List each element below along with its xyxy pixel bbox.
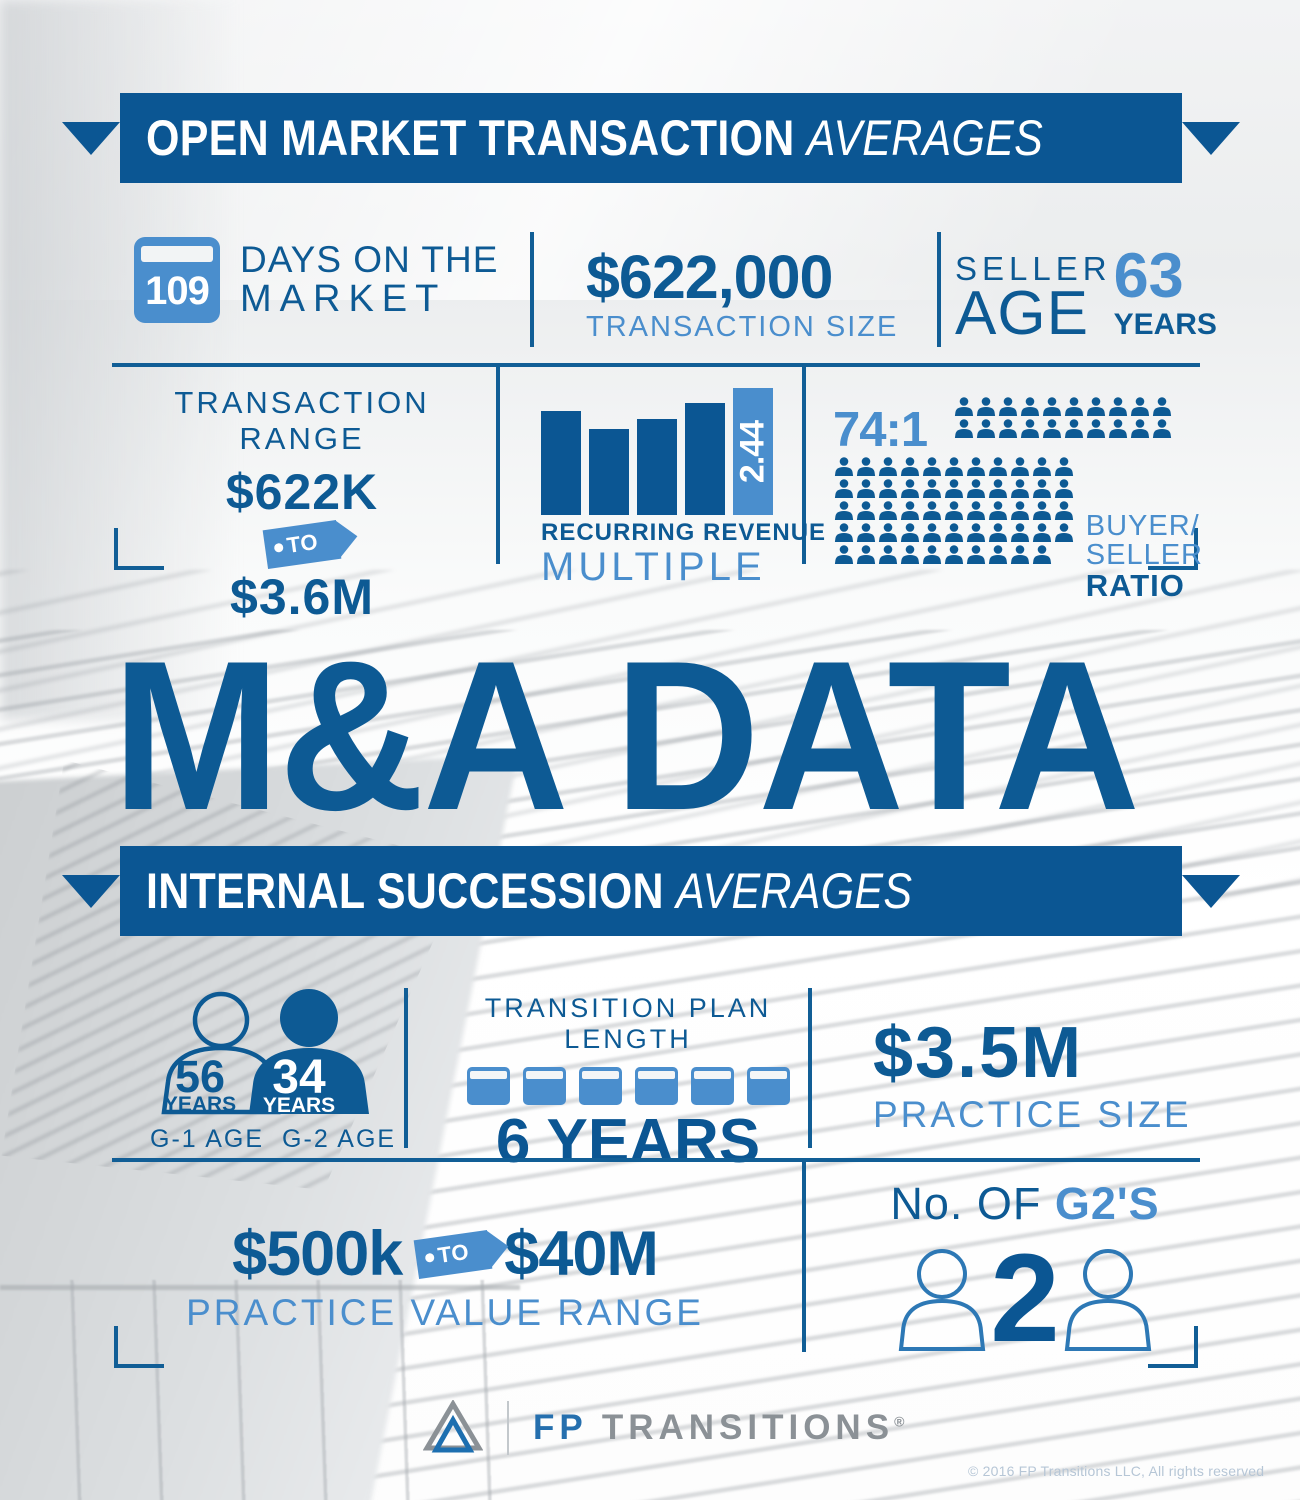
person-icon-69	[921, 544, 943, 566]
person-icon-54	[833, 522, 855, 544]
seller-age-stat: SELLER AGE 63 YEARS	[955, 245, 1217, 342]
person-icon-44	[855, 500, 877, 522]
person-icon-21	[833, 456, 855, 478]
bar-3	[637, 419, 677, 515]
person-icon-39	[987, 478, 1009, 500]
person-icon-30	[1031, 456, 1053, 478]
divider-vertical-2	[937, 232, 941, 347]
to-price-tag-icon-2: TO	[414, 1230, 493, 1279]
person-icon-4	[1019, 396, 1041, 418]
divider-vertical-1	[530, 232, 534, 347]
calendar-icon-5	[691, 1067, 734, 1105]
footer-brand: FP TRANSITIONS®	[423, 1400, 909, 1456]
person-icon-40	[1009, 478, 1031, 500]
person-icon-26	[943, 456, 965, 478]
number-of-g2s-value: 2	[990, 1236, 1060, 1361]
person-icon-12	[975, 418, 997, 440]
g2s-label-prefix: No. OF	[890, 1178, 1055, 1229]
person-icon-70	[943, 544, 965, 566]
transaction-range-low: $622K	[112, 463, 492, 521]
person-icon-68	[899, 544, 921, 566]
person-icon-67	[877, 544, 899, 566]
registered-mark-icon: ®	[894, 1413, 909, 1429]
person-icon-grid-bottom	[833, 456, 1080, 566]
g1-age-label: G-1 AGE	[150, 1125, 264, 1154]
person-icon-11	[953, 418, 975, 440]
calendar-icon-6	[747, 1067, 790, 1105]
fp-triangle-logo-icon	[423, 1400, 483, 1456]
calendar-icon-2	[523, 1067, 566, 1105]
buyer-seller-ratio-stat: 74:1 BUYER/ SELLER RATIO	[833, 396, 1203, 602]
person-icon-60	[965, 522, 987, 544]
person-icon-63	[1031, 522, 1053, 544]
person-icon-50	[987, 500, 1009, 522]
days-on-market-value: 109	[145, 271, 209, 323]
person-icon-38	[965, 478, 987, 500]
person-icon-29	[1009, 456, 1031, 478]
person-icon-22	[855, 456, 877, 478]
buyer-seller-label-line2: SELLER	[1086, 541, 1203, 570]
bar-5-highlight: 2.44	[733, 388, 773, 515]
person-icon-58	[921, 522, 943, 544]
person-icon-37	[943, 478, 965, 500]
person-icon-61	[987, 522, 1009, 544]
person-outline-icon-right	[1064, 1245, 1152, 1353]
practice-value-range-label: PRACTICE VALUE RANGE	[150, 1292, 740, 1334]
person-icon-65	[833, 544, 855, 566]
person-icon-20	[1151, 418, 1173, 440]
transaction-range-stat: TRANSACTION RANGE $622K TO $3.6M	[112, 385, 492, 626]
person-icon-17	[1085, 418, 1107, 440]
person-icon-32	[833, 478, 855, 500]
seller-age-value: 63	[1114, 245, 1217, 308]
footer-divider	[507, 1401, 509, 1455]
person-icon-53	[1053, 500, 1075, 522]
person-icon-73	[1009, 544, 1031, 566]
person-icon-13	[997, 418, 1019, 440]
person-icon-49	[965, 500, 987, 522]
person-icon-46	[899, 500, 921, 522]
divider-horizontal-1	[112, 363, 1200, 367]
person-icon-33	[855, 478, 877, 500]
person-icon-23	[877, 456, 899, 478]
bar-1	[541, 411, 581, 515]
person-icon-18	[1107, 418, 1129, 440]
practice-size-stat: $3.5M PRACTICE SIZE	[873, 1012, 1192, 1136]
svg-text:YEARS: YEARS	[263, 1094, 335, 1117]
person-icon-25	[921, 456, 943, 478]
person-icon-28	[987, 456, 1009, 478]
internal-succession-banner-title: INTERNAL SUCCESSION	[146, 863, 664, 919]
practice-size-label: PRACTICE SIZE	[873, 1094, 1192, 1136]
person-icon-45	[877, 500, 899, 522]
page-title: M&A DATA	[112, 630, 1138, 843]
days-on-market-label-line2: MARKET	[240, 279, 498, 320]
divider-vertical-6	[808, 988, 812, 1148]
two-person-icon: 56 YEARS 34 YEARS	[148, 978, 378, 1118]
seller-age-label-main: AGE	[955, 285, 1112, 342]
calendar-icon-3	[579, 1067, 622, 1105]
open-market-banner: OPEN MARKET TRANSACTION AVERAGES	[62, 93, 1240, 183]
person-icon-10	[1151, 396, 1173, 418]
person-icon-72	[987, 544, 1009, 566]
person-icon-7	[1085, 396, 1107, 418]
calendar-icon-1	[467, 1067, 510, 1105]
internal-succession-banner-subtitle: AVERAGES	[676, 863, 912, 919]
recurring-revenue-label-line1: RECURRING REVENUE	[541, 519, 826, 547]
open-market-banner-subtitle: AVERAGES	[807, 110, 1043, 166]
transaction-range-connector: TO	[285, 529, 319, 559]
generation-ages-stat: 56 YEARS 34 YEARS G-1 AGE G-2 AGE	[148, 978, 396, 1154]
triangle-right-icon	[1182, 122, 1240, 155]
person-icon-6	[1063, 396, 1085, 418]
divider-vertical-7	[802, 1162, 806, 1352]
multiple-bar-chart: 2.44	[541, 390, 826, 515]
triangle-left-icon-2	[62, 875, 120, 908]
triangle-left-icon	[62, 122, 120, 155]
person-icon-51	[1009, 500, 1031, 522]
person-icon-52	[1031, 500, 1053, 522]
person-icon-2	[975, 396, 997, 418]
person-icon-74	[1031, 544, 1053, 566]
person-icon-14	[1019, 418, 1041, 440]
bar-4	[685, 403, 725, 515]
transaction-size-label: TRANSACTION SIZE	[586, 312, 898, 344]
seller-age-unit: YEARS	[1114, 308, 1217, 342]
person-icon-35	[899, 478, 921, 500]
person-icon-8	[1107, 396, 1129, 418]
recurring-revenue-multiple-stat: 2.44 RECURRING REVENUE MULTIPLE	[541, 390, 826, 587]
person-icon-31	[1053, 456, 1075, 478]
recurring-revenue-value: 2.44	[734, 420, 773, 482]
copyright-text: © 2016 FP Transitions LLC, All rights re…	[968, 1463, 1264, 1479]
person-icon-36	[921, 478, 943, 500]
transition-plan-calendar-icons	[458, 1067, 798, 1105]
g2s-label-bold: G2'S	[1055, 1178, 1160, 1229]
transaction-range-title: TRANSACTION RANGE	[112, 385, 492, 457]
bar-2	[589, 429, 629, 515]
transaction-size-stat: $622,000 TRANSACTION SIZE	[586, 247, 898, 344]
person-icon-16	[1063, 418, 1085, 440]
open-market-banner-title: OPEN MARKET TRANSACTION	[146, 110, 795, 166]
person-icon-66	[855, 544, 877, 566]
days-on-market-stat: 109 DAYS ON THE MARKET	[134, 237, 498, 323]
buyer-seller-ratio-value: 74:1	[833, 396, 953, 458]
transition-plan-title: TRANSITION PLAN LENGTH	[458, 993, 798, 1055]
number-of-g2s-stat: No. OF G2'S 2	[855, 1178, 1195, 1361]
person-icon-41	[1031, 478, 1053, 500]
svg-text:YEARS: YEARS	[164, 1093, 236, 1116]
transition-plan-stat: TRANSITION PLAN LENGTH 6 YEARS	[458, 993, 798, 1173]
buyer-seller-label-line3: RATIO	[1086, 568, 1185, 603]
internal-succession-banner: INTERNAL SUCCESSION AVERAGES	[62, 846, 1240, 936]
transition-plan-value: 6 YEARS	[458, 1111, 798, 1173]
person-icon-24	[899, 456, 921, 478]
recurring-revenue-label-line2: MULTIPLE	[541, 547, 826, 587]
practice-value-connector: TO	[437, 1238, 471, 1268]
person-icon-43	[833, 500, 855, 522]
transaction-size-value: $622,000	[586, 247, 898, 308]
buyer-seller-label-line1: BUYER/	[1086, 512, 1203, 541]
person-icon-57	[899, 522, 921, 544]
days-on-market-label-line1: DAYS ON THE	[240, 240, 498, 280]
person-icon-64	[1053, 522, 1075, 544]
person-icon-48	[943, 500, 965, 522]
person-icon-56	[877, 522, 899, 544]
person-icon-1	[953, 396, 975, 418]
practice-size-value: $3.5M	[873, 1012, 1192, 1094]
divider-horizontal-2	[112, 1158, 1200, 1162]
person-icon-grid-top	[953, 396, 1189, 440]
calendar-icon-4	[635, 1067, 678, 1105]
practice-value-range-stat: $500k TO $40M PRACTICE VALUE RANGE	[150, 1218, 740, 1334]
person-icon-47	[921, 500, 943, 522]
g2-age-label: G-2 AGE	[282, 1125, 396, 1154]
person-icon-59	[943, 522, 965, 544]
person-outline-icon-left	[898, 1245, 986, 1353]
person-icon-15	[1041, 418, 1063, 440]
person-icon-62	[1009, 522, 1031, 544]
person-icon-27	[965, 456, 987, 478]
divider-vertical-5	[404, 988, 408, 1148]
person-icon-3	[997, 396, 1019, 418]
person-icon-71	[965, 544, 987, 566]
practice-value-high: $40M	[504, 1218, 658, 1290]
calendar-icon: 109	[134, 237, 220, 323]
brand-fp: FP	[533, 1408, 587, 1447]
triangle-right-icon-2	[1182, 875, 1240, 908]
person-icon-42	[1053, 478, 1075, 500]
person-icon-5	[1041, 396, 1063, 418]
person-icon-55	[855, 522, 877, 544]
to-price-tag-icon: TO	[263, 520, 342, 569]
practice-value-low: $500k	[232, 1218, 402, 1290]
brand-transitions: TRANSITIONS	[602, 1408, 894, 1447]
person-icon-19	[1129, 418, 1151, 440]
person-icon-9	[1129, 396, 1151, 418]
person-icon-34	[877, 478, 899, 500]
divider-vertical-3	[496, 366, 500, 564]
